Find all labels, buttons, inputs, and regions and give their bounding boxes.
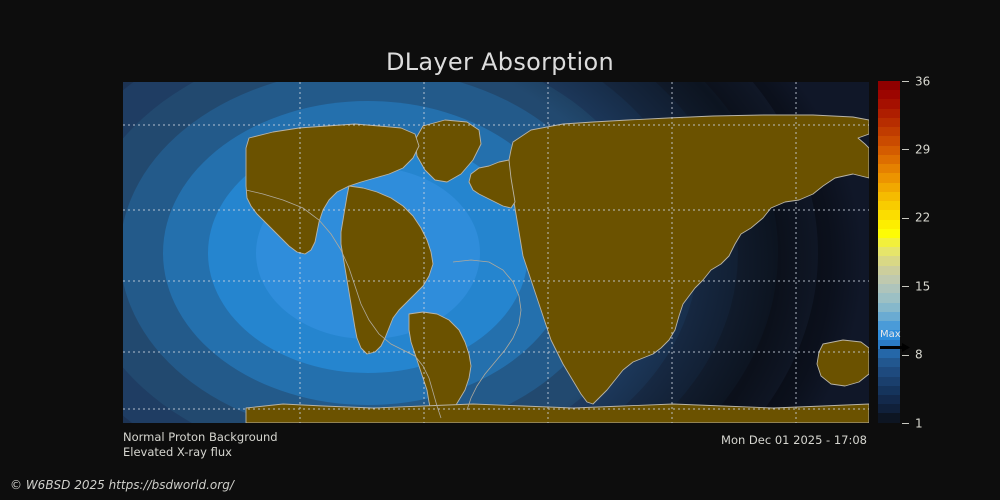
- colorbar-segment: [878, 238, 900, 247]
- colorbar-segment: [878, 293, 900, 302]
- colorbar-segment: [878, 155, 900, 164]
- colorbar-segment: [878, 118, 900, 127]
- colorbar-tick: 1: [900, 423, 923, 424]
- colorbar-segment: [878, 367, 900, 376]
- colorbar-tick-line: [902, 218, 909, 219]
- copyright-text: © W6BSD 2025 https://bsdworld.org/: [10, 479, 234, 491]
- colorbar-tick-line: [902, 423, 909, 424]
- colorbar-segment: [878, 183, 900, 192]
- colorbar-tick-line: [902, 355, 909, 356]
- colorbar-segment: [878, 210, 900, 219]
- colorbar-segment: [878, 330, 900, 339]
- colorbar-segment: [878, 220, 900, 229]
- landmass-group: [246, 115, 869, 423]
- colorbar-segment: [878, 321, 900, 330]
- colorbar-segment: [878, 256, 900, 265]
- colorbar-tick-label: 22: [915, 212, 930, 224]
- colorbar-tick: 29: [900, 149, 930, 150]
- colorbar-segment: [878, 377, 900, 386]
- timestamp-text: Mon Dec 01 2025 - 17:08: [721, 435, 867, 447]
- colorbar-segment: [878, 127, 900, 136]
- proton-status-text: Normal Proton Background: [123, 432, 278, 444]
- colorbar-segment: [878, 229, 900, 238]
- colorbar-segment: [878, 173, 900, 182]
- colorbar-segment: [878, 349, 900, 358]
- colorbar-segment: [878, 192, 900, 201]
- page-title: DLayer Absorption: [0, 48, 1000, 76]
- colorbar-segment: [878, 413, 900, 422]
- map-vector-layer: [123, 82, 869, 423]
- colorbar-segment: [878, 109, 900, 118]
- colorbar-segment: [878, 404, 900, 413]
- colorbar-segment: [878, 284, 900, 293]
- colorbar-tick: 8: [900, 355, 923, 356]
- colorbar-segment: [878, 312, 900, 321]
- colorbar-axis-label: Affected Frequency (MHz): [931, 81, 1000, 423]
- colorbar-tick: 36: [900, 81, 930, 82]
- colorbar-segment: [878, 146, 900, 155]
- colorbar-segment: [878, 340, 900, 349]
- colorbar-tick-label: 8: [915, 349, 923, 361]
- colorbar-segment: [878, 275, 900, 284]
- colorbar-segment: [878, 303, 900, 312]
- colorbar-segment: [878, 90, 900, 99]
- colorbar-segment: [878, 386, 900, 395]
- colorbar-tick-line: [902, 286, 909, 287]
- world-map[interactable]: [123, 82, 869, 423]
- colorbar-segment: [878, 247, 900, 256]
- colorbar-segment: [878, 136, 900, 145]
- colorbar-tick-line: [902, 81, 909, 82]
- colorbar[interactable]: 1815222936: [878, 81, 900, 423]
- app-root: DLayer Absorption: [0, 0, 1000, 500]
- colorbar-segment: [878, 99, 900, 108]
- colorbar-tick-label: 1: [915, 417, 923, 429]
- colorbar-tick: 22: [900, 218, 930, 219]
- colorbar-segment: [878, 266, 900, 275]
- colorbar-tick-line: [902, 149, 909, 150]
- colorbar-gradient: [878, 81, 900, 423]
- colorbar-segment: [878, 358, 900, 367]
- colorbar-tick-label: 36: [915, 75, 930, 87]
- colorbar-segment: [878, 201, 900, 210]
- colorbar-tick-label: 15: [915, 280, 930, 292]
- colorbar-tick-label: 29: [915, 143, 930, 155]
- colorbar-segment: [878, 395, 900, 404]
- colorbar-tick: 15: [900, 286, 930, 287]
- colorbar-segment: [878, 164, 900, 173]
- xray-status-text: Elevated X-ray flux: [123, 447, 232, 459]
- colorbar-segment: [878, 81, 900, 90]
